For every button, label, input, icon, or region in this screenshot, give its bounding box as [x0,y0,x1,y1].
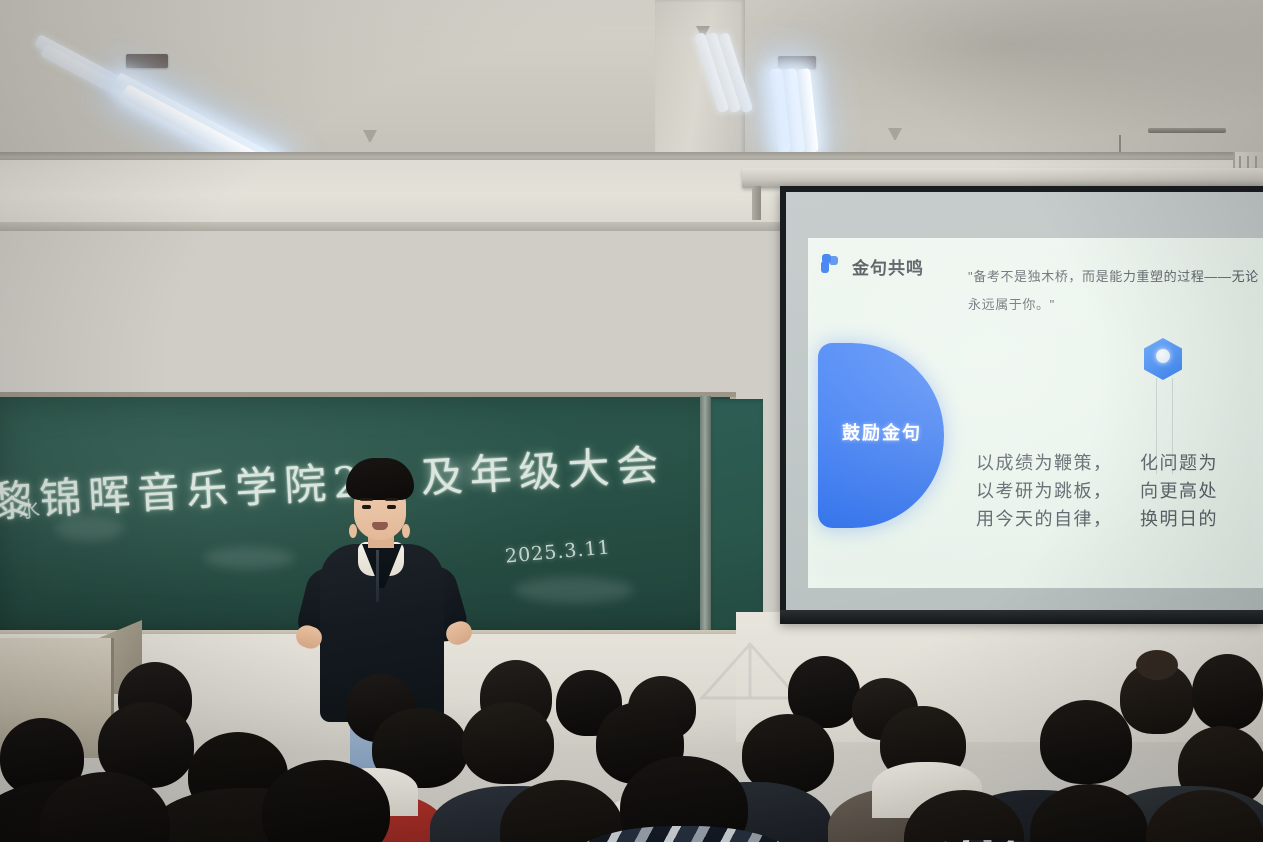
slide-column-left-line-1: 以成绩为鞭策， [976,450,1113,478]
classroom-photo: 黎锦晖音乐学院20 及年级大会 水 2025.3.11 金句共鸣 "备考不是独木… [0,0,1263,842]
audience-head [1192,654,1263,730]
slide-column-right-line-1: 化问题为 [1140,450,1218,478]
hexagon-node-icon [1144,338,1182,380]
presenter-hair [346,458,414,500]
slide-badge-label: 鼓励金句 [832,419,932,445]
slide-badge-encouragement: 鼓励金句 [818,343,944,528]
slide-column-left-line-3: 用今天的自律， [976,506,1113,534]
projection-screen-housing [742,168,1263,188]
slide-column-right-line-3: 换明日的 [1140,506,1218,534]
audience-head [1040,700,1132,784]
slide-column-right-line-2: 向更高处 [1140,478,1218,506]
slide-quote-line-2: 永远属于你。" [968,290,1263,319]
fluorescent-tube-fixture-left [40,22,300,142]
presenter-zipper [376,550,379,602]
slide-quote-line-1: "备考不是独木桥，而是能力重塑的过程——无论 [968,262,1263,291]
projected-slide: 金句共鸣 "备考不是独木桥，而是能力重塑的过程——无论 永远属于你。" 鼓励金句… [808,238,1263,588]
presenter-mouth [372,522,388,530]
projection-screen-bracket [752,186,761,220]
audience-head [462,702,554,784]
flag-marker-icon [820,254,840,274]
ceiling-rail [1148,128,1226,133]
slide-column-left: 以成绩为鞭策， 以考研为跳板， 用今天的自律， [976,450,1113,534]
projection-screen-bottom-bar [780,610,1263,624]
blackboard-secondary-char: 水 [17,491,41,524]
audience-hair-bun [1136,650,1178,680]
fluorescent-tube-fixture-right [690,14,910,164]
slide-column-left-line-2: 以考研为跳板， [976,478,1113,506]
blackboard-side-panel [707,399,763,633]
slide-column-right: 化问题为 向更高处 换明日的 [1140,450,1218,534]
blackboard-panel-seam [700,396,711,636]
slide-header-label: 金句共鸣 [852,254,924,279]
audience: ARTOMASTORY [0,640,1263,842]
